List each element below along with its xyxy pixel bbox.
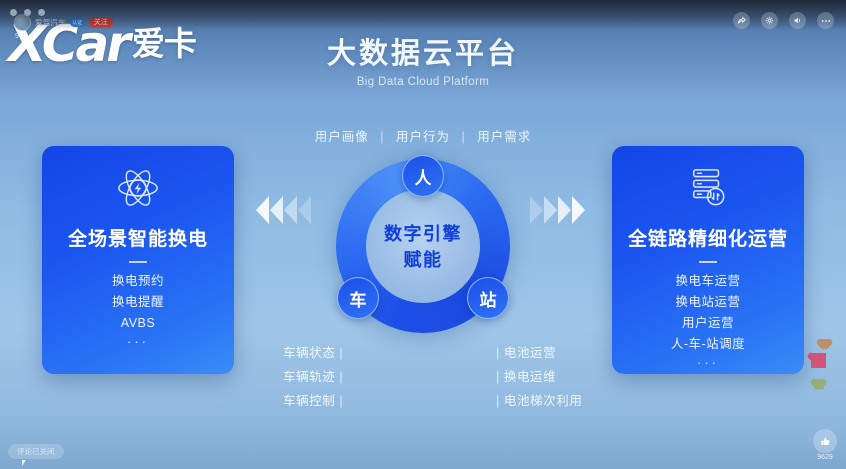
window-minimize-dot[interactable] xyxy=(24,9,31,16)
list-item: 换电车运营 xyxy=(671,271,745,292)
keyword-row: 用户画像 | 用户行为 | 用户需求 xyxy=(0,126,846,145)
label-text: 车辆控制 xyxy=(283,394,335,408)
engine-label-line2: 赋能 xyxy=(336,247,510,273)
like-button[interactable]: 9629 xyxy=(812,429,838,461)
window-maximize-dot[interactable] xyxy=(38,9,45,16)
label-text: 车辆状态 xyxy=(283,346,335,360)
page-subtitle: Big Data Cloud Platform xyxy=(0,76,846,88)
live-stream-viewport: 爱驾汽车 认证 关注 9:25:7 XCar 爱卡 大数据云平台 Big Dat… xyxy=(0,0,846,469)
card-left-title: 全场景智能换电 xyxy=(68,224,208,251)
player-topbar xyxy=(0,0,846,30)
chevron-right-icon xyxy=(530,196,585,224)
chevron-right-glyph xyxy=(544,196,557,224)
comment-status-pill[interactable]: 评论已关闭 xyxy=(8,444,64,459)
bottom-labels-right: |电池运营 |换电运维 |电池梯次利用 xyxy=(492,341,582,413)
label-bar: | xyxy=(339,341,343,365)
heart-icon xyxy=(814,379,824,389)
gear-icon[interactable] xyxy=(761,12,778,29)
node-vehicle: 车 xyxy=(337,277,379,319)
list-ellipsis: ··· xyxy=(112,334,164,350)
thumbs-up-icon[interactable] xyxy=(813,429,837,453)
bottom-labels-left: 车辆状态| 车辆轨迹| 车辆控制| xyxy=(283,341,347,413)
heart-icon xyxy=(820,339,829,348)
page-title: 大数据云平台 xyxy=(0,30,846,72)
keyword-item-1: 用户行为 xyxy=(396,130,450,144)
list-item: 换电预约 xyxy=(112,271,164,292)
label-bar: | xyxy=(339,389,343,413)
card-smart-battery-swap: 全场景智能换电 换电预约 换电提醒 AVBS ··· xyxy=(42,146,234,374)
card-full-chain-operation: 全链路精细化运营 换电车运营 换电站运营 用户运营 人-车-站调度 ··· xyxy=(612,146,804,374)
digital-engine-diagram: 数字引擎 赋能 人 车 站 xyxy=(336,159,510,333)
label-bar: | xyxy=(496,365,500,389)
chevron-left-icon xyxy=(256,196,311,224)
engine-label: 数字引擎 赋能 xyxy=(336,221,510,273)
list-item: 换电提醒 xyxy=(112,292,164,313)
keyword-separator-0: | xyxy=(380,130,384,144)
list-ellipsis: ··· xyxy=(671,355,745,371)
card-left-list: 换电预约 换电提醒 AVBS ··· xyxy=(112,271,164,350)
label-text: 电池运营 xyxy=(504,346,556,360)
chevron-right-glyph xyxy=(530,196,543,224)
like-count: 9629 xyxy=(812,454,838,461)
list-item: 用户运营 xyxy=(671,313,745,334)
label-text: 换电运维 xyxy=(504,370,556,384)
keyword-item-2: 用户需求 xyxy=(477,130,531,144)
card-right-divider xyxy=(699,261,717,263)
card-right-list: 换电车运营 换电站运营 用户运营 人-车-站调度 ··· xyxy=(671,271,745,371)
window-close-dot[interactable] xyxy=(10,9,17,16)
label-bar: | xyxy=(496,389,500,413)
card-left-divider xyxy=(129,261,147,263)
keyword-item-0: 用户画像 xyxy=(315,130,369,144)
chevron-right-glyph xyxy=(558,196,571,224)
chevron-left-glyph xyxy=(270,196,283,224)
heart-icon xyxy=(811,353,826,368)
node-station: 站 xyxy=(467,277,509,319)
player-action-bar xyxy=(733,12,834,29)
live-elapsed-time: 9:25:7 xyxy=(15,33,34,40)
list-item: 换电站运营 xyxy=(671,292,745,313)
server-exchange-icon xyxy=(688,164,728,212)
label-text: 电池梯次利用 xyxy=(504,394,583,408)
share-icon[interactable] xyxy=(733,12,750,29)
slide-header: 大数据云平台 Big Data Cloud Platform xyxy=(0,30,846,88)
label-bar: | xyxy=(496,341,500,365)
volume-icon[interactable] xyxy=(789,12,806,29)
atom-lightning-icon xyxy=(115,164,161,212)
window-controls[interactable] xyxy=(10,9,45,16)
mouse-cursor xyxy=(22,460,26,466)
more-icon[interactable] xyxy=(817,12,834,29)
list-item: AVBS xyxy=(112,313,164,334)
card-right-title: 全链路精细化运营 xyxy=(628,224,788,251)
engine-label-line1: 数字引擎 xyxy=(336,221,510,247)
chevron-right-glyph xyxy=(572,196,585,224)
label-bar: | xyxy=(339,365,343,389)
chevron-left-glyph xyxy=(284,196,297,224)
list-item: 人-车-站调度 xyxy=(671,334,745,355)
chevron-left-glyph xyxy=(256,196,269,224)
node-person: 人 xyxy=(402,155,444,197)
label-text: 车辆轨迹 xyxy=(283,370,335,384)
chevron-left-glyph xyxy=(298,196,311,224)
floating-hearts-animation xyxy=(804,337,838,417)
keyword-separator-1: | xyxy=(461,130,465,144)
